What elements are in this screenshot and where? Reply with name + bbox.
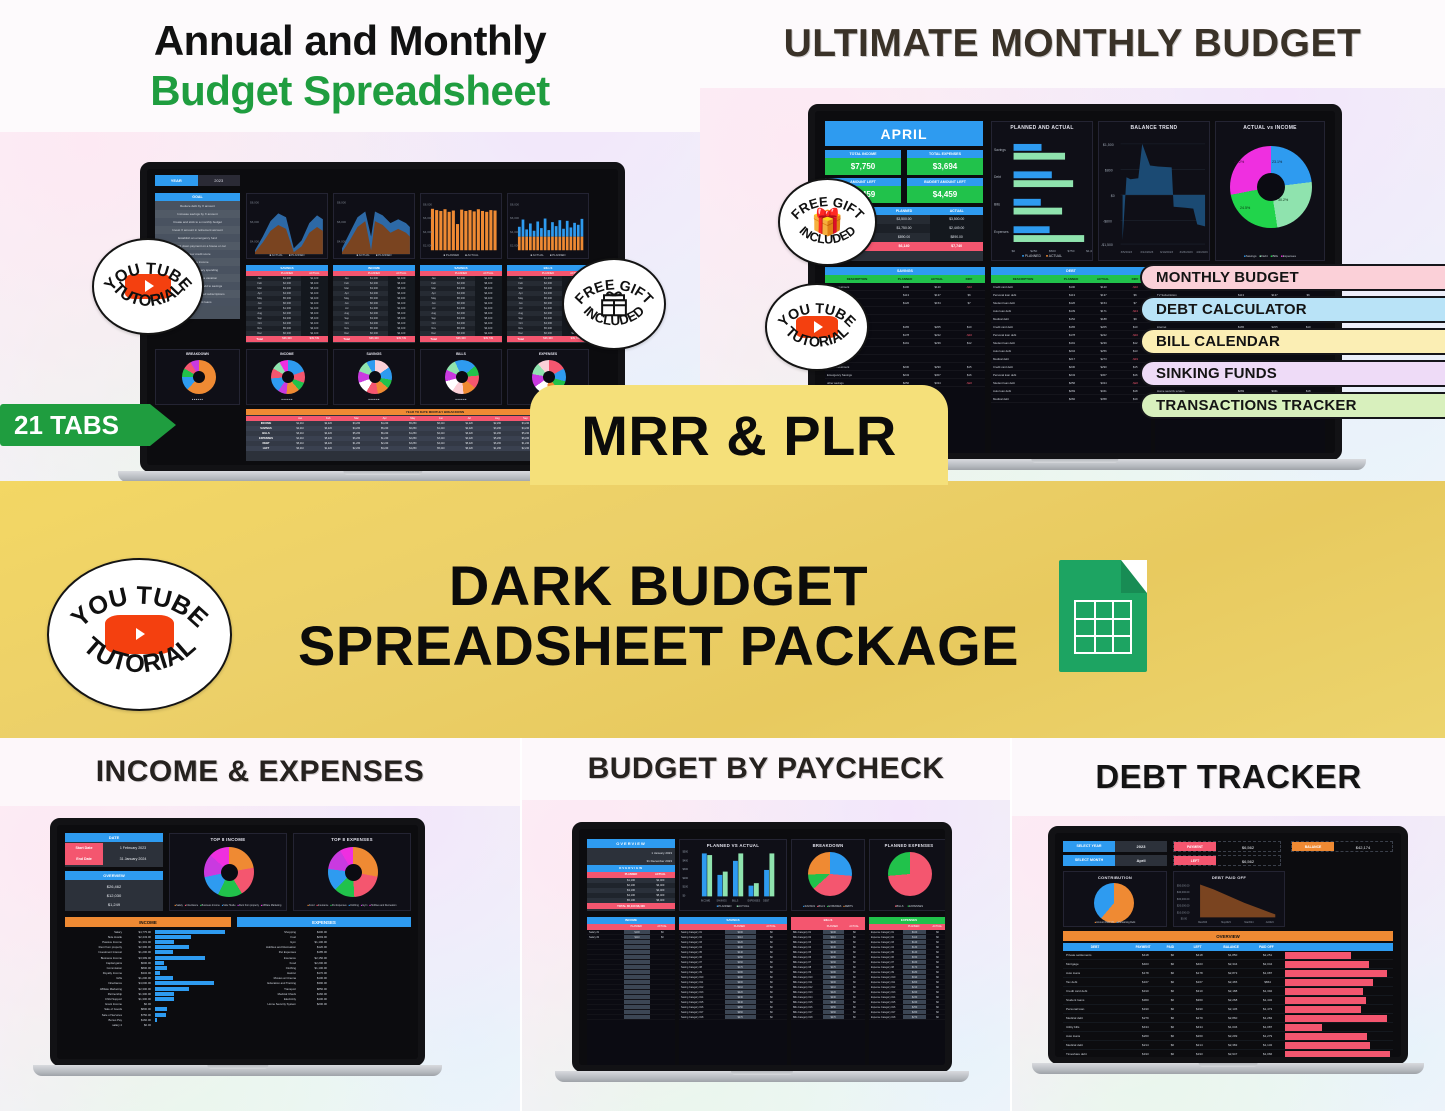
- svg-text:$10,000.00: $10,000.00: [1177, 911, 1190, 914]
- cell-total-actual: $39,739: [475, 336, 502, 342]
- cell-diff: [953, 347, 985, 354]
- cell-label: Saving Category #6: [679, 955, 725, 959]
- debt-cell: $2,947: [1215, 1052, 1250, 1056]
- cell-planned: [624, 945, 649, 949]
- cell-actual: $0: [650, 930, 675, 934]
- cell-label: Saving Category #14: [679, 995, 725, 999]
- cell-actual: $0: [756, 940, 787, 944]
- cell-label: [587, 960, 624, 964]
- cell-planned: $120: [725, 940, 756, 944]
- cell-label: Saving Category #8: [679, 965, 725, 969]
- row-value: $0.00: [125, 1002, 155, 1006]
- row-barwrap: [155, 987, 231, 991]
- cell-actual: $0: [844, 985, 865, 989]
- income-date-row: Start Date1 February 2023: [65, 843, 163, 854]
- gift-top-label: FREE GIFT: [788, 194, 867, 223]
- table-row: Personal loan debt$178$222-$16: [991, 331, 1151, 339]
- table-row: Auto loan debt$204$256$13: [991, 347, 1151, 355]
- overview-value: $1,249: [65, 900, 163, 909]
- debt-selector[interactable]: SELECT YEAR2023: [1063, 841, 1167, 852]
- cell-actual: $0: [756, 935, 787, 939]
- cell-actual: $0: [756, 995, 787, 999]
- cell-actual: $0: [844, 1000, 865, 1004]
- overview-subheader: OVERVIEW: [587, 865, 675, 872]
- paycheck-laptop: OVERVIEW 1 January 202331 December 2023O…: [572, 822, 952, 1082]
- feature-tab-5[interactable]: TRANSACTIONS TRACKER: [1140, 392, 1445, 419]
- debt-cell: Mortgage: [1063, 962, 1130, 966]
- cell-actual: $0: [756, 950, 787, 954]
- row-value: $100.00: [299, 997, 331, 1001]
- debt-cell: $167: [1130, 980, 1162, 984]
- date-value: 31 January 2024: [103, 854, 163, 865]
- debt-barwrap: [1285, 952, 1393, 959]
- debt-barwrap: [1285, 979, 1393, 986]
- debt-bar: [1285, 1024, 1322, 1031]
- cell-label: Saving Category #9: [679, 970, 725, 974]
- col-planned: PLANNED: [1055, 275, 1087, 283]
- cell-actual: $0: [756, 975, 787, 979]
- cell-planned: $100: [1056, 283, 1088, 290]
- cell-label: Bills Category #18: [791, 1015, 823, 1019]
- svg-text:$8,000: $8,000: [337, 201, 346, 205]
- cell-label: Bills Category #6: [791, 955, 823, 959]
- debt-cell: $2,188: [1215, 989, 1250, 993]
- cell-planned: $170: [725, 965, 756, 969]
- cell-actual: $0: [926, 1000, 949, 1004]
- cell-planned: $270: [725, 1015, 756, 1019]
- row-barwrap: [155, 966, 231, 970]
- annual-title-line1: Annual and Monthly: [154, 17, 546, 65]
- row-label: Food: [237, 961, 299, 965]
- cell-label: Bills Category #13: [791, 990, 823, 994]
- debt-barwrap: [1285, 988, 1393, 995]
- cell-planned: $100: [903, 930, 926, 934]
- cell-label: Expense Category #12: [869, 985, 903, 989]
- row-value: $1,200.00: [125, 950, 155, 954]
- row-label: Royalty Income: [65, 971, 125, 975]
- table-row: Student loan debt$256$324-$22: [991, 379, 1151, 387]
- mini-cell: $3,500.00: [930, 215, 983, 224]
- income-chart-top-expenses: TOP 8 EXPENSES ■Food ■Insurance ■Pet Exp…: [293, 833, 411, 911]
- svg-text:$50,000.00: $50,000.00: [1177, 884, 1190, 887]
- row-label: Electricity: [237, 997, 299, 1001]
- debt-cell: $2,860: [1215, 1016, 1250, 1020]
- cell-actual: $0: [926, 950, 949, 954]
- cell-planned: $165: [890, 323, 922, 330]
- col-actual: ACTUAL: [930, 207, 983, 215]
- debt-cell: $279: [1183, 1016, 1215, 1020]
- cell-label: Expense Category #14: [869, 995, 903, 999]
- row-label: salary 2: [65, 1023, 125, 1027]
- cell-label: Saving Category #18: [679, 1015, 725, 1019]
- cell-planned: $160: [725, 960, 756, 964]
- cell-diff: [953, 307, 985, 314]
- table-total-row: Total$36,300$39,739: [333, 336, 415, 342]
- cell-planned: [624, 1015, 649, 1019]
- google-sheets-icon: [1059, 560, 1147, 672]
- row-label: Sale of Services: [65, 1013, 125, 1017]
- income-screen: DATE Start Date1 February 2023End Date31…: [50, 818, 425, 1066]
- cell-actual: $154: [1088, 299, 1120, 306]
- cell-total-planned: $36,300: [273, 336, 300, 342]
- cell-label: [587, 975, 624, 979]
- cell-actual: $0: [926, 960, 949, 964]
- annual-donut-panel: INCOME■ ■ ■ ■ ■ ■: [246, 349, 328, 405]
- cell-actual: [650, 970, 675, 974]
- cell-planned: $170: [903, 965, 926, 969]
- cell-label: Bills Category #1: [791, 930, 823, 934]
- cell-actual: $0: [844, 940, 865, 944]
- cell-planned: $110: [823, 935, 844, 939]
- feature-tab-4[interactable]: SINKING FUNDS: [1140, 360, 1445, 387]
- row-label: Inheritance: [65, 981, 125, 985]
- cell-planned: $217: [1056, 355, 1088, 362]
- svg-text:$6,000: $6,000: [250, 220, 259, 224]
- debt-bar: [1285, 1033, 1367, 1040]
- legend-side-hustle: ■Side Hustle: [222, 904, 236, 907]
- svg-text:$1,500: $1,500: [1103, 143, 1114, 147]
- row-barwrap: [155, 1002, 231, 1006]
- table-row: Credit card debt$165$205$10: [991, 323, 1151, 331]
- cell-actual: $0: [756, 1010, 787, 1014]
- annual-year-tab[interactable]: YEAR: [155, 175, 198, 186]
- row-bar: [155, 945, 189, 949]
- cell-actual: $0: [756, 990, 787, 994]
- row-bar: [155, 1007, 167, 1011]
- cell-actual: [922, 347, 954, 354]
- debt-bar: [1285, 952, 1351, 959]
- cell-description: Credit card debt: [991, 283, 1056, 290]
- cell-label: Bills Category #3: [791, 940, 823, 944]
- svg-text:$0: $0: [1012, 249, 1016, 253]
- row-bar: [155, 940, 174, 944]
- annual-month-table: SAVINGSPLANNEDACTUALJan$1,300$1,100Feb$2…: [420, 265, 502, 343]
- cell-label: [587, 995, 624, 999]
- row-label: Shopping: [237, 930, 299, 934]
- svg-text:$8,000: $8,000: [510, 203, 519, 207]
- row-label: Affiliate Marketing: [65, 987, 125, 991]
- row-label: Bonus Pay: [65, 1018, 125, 1022]
- cell-planned: $126: [1056, 299, 1088, 306]
- row-label: Business Income: [65, 956, 125, 960]
- cell-diff: $6: [953, 291, 985, 298]
- income-date-row: End Date31 January 2024: [65, 854, 163, 865]
- row-barwrap: [155, 961, 231, 965]
- debt-cell: $178: [1183, 971, 1215, 975]
- table-total-row: Total$36,300$39,739: [246, 336, 328, 342]
- row-value: $200.00: [299, 1002, 331, 1006]
- cell-total-planned: $36,300: [534, 336, 561, 342]
- debt-bar: [1285, 1051, 1390, 1058]
- chart-title-actual-vs-income: ACTUAL vs INCOME: [1216, 125, 1324, 131]
- table-row: Saving Category #18$270$0: [679, 1015, 787, 1020]
- svg-text:INCLUDED: INCLUDED: [797, 223, 859, 246]
- cell-actual: $0: [844, 960, 865, 964]
- table-row: Medical debt$282$358$19: [991, 395, 1151, 403]
- donut-legend: ■ ■ ■ ■ ■ ■: [158, 399, 237, 402]
- overview-value: $12,030: [65, 891, 163, 900]
- cell-actual: [650, 960, 675, 964]
- selector-value: April: [1115, 855, 1167, 866]
- laptop-notch: [1199, 1063, 1258, 1067]
- col-diff: DIFF: [953, 275, 985, 283]
- overview-date: 1 January 2023: [587, 849, 675, 857]
- chart-title-breakdown: BREAKDOWN: [156, 352, 239, 356]
- cell-label: Expense Category #6: [869, 955, 903, 959]
- row-barwrap: [155, 940, 231, 944]
- feature-tab-1[interactable]: MONTHLY BUDGET: [1140, 264, 1445, 291]
- cell-planned: $100: [890, 283, 922, 290]
- cell-planned: [624, 980, 649, 984]
- debt-row: Tax debt$167$0$167$2,465$864: [1063, 978, 1393, 987]
- row-value: $3,399.00: [125, 956, 155, 960]
- debt-barwrap: [1285, 1042, 1393, 1049]
- cell-actual: $222: [922, 331, 954, 338]
- cell-actual: $0: [650, 935, 675, 939]
- cell-actual: $0: [844, 970, 865, 974]
- table-row: Expense Category #18$270$0: [869, 1015, 949, 1020]
- income-row: Rent from property$2,300.00: [65, 945, 231, 950]
- cell-planned: $140: [725, 950, 756, 954]
- table-title: INCOME: [587, 917, 675, 924]
- cell-planned: [624, 985, 649, 989]
- cell-actual: $290: [922, 363, 954, 370]
- cell-actual: $0: [926, 995, 949, 999]
- donut-legend: ■ ■ ■ ■ ■ ■: [336, 399, 412, 402]
- row-label: Fuel: [237, 935, 299, 939]
- row-barwrap: [155, 971, 231, 975]
- cell-planned: $220: [903, 990, 926, 994]
- cell-planned: $160: [903, 960, 926, 964]
- debt-barwrap: [1285, 1033, 1393, 1040]
- cell-label: Expense Category #1: [869, 930, 903, 934]
- debt-kpi: BALANCE$42,174: [1291, 841, 1393, 852]
- paycheck-overview-header: OVERVIEW: [587, 839, 675, 848]
- row-barwrap: [155, 981, 231, 985]
- cell-label: Bills Category #7: [791, 960, 823, 964]
- debt-cell: Tax debt: [1063, 980, 1130, 984]
- cell-planned: [624, 1005, 649, 1009]
- feature-tab-label: DEBT CALCULATOR: [1156, 301, 1307, 318]
- row-barwrap: [155, 1018, 231, 1022]
- debt-cell: $360: [1183, 998, 1215, 1002]
- debt-bar: [1285, 979, 1373, 986]
- legend-bills: ■Bills: [1271, 254, 1278, 258]
- debt-cell: Utility bills: [1063, 1025, 1130, 1029]
- row-bar: [155, 1013, 166, 1017]
- yt-top-label: YOU TUBE: [776, 301, 859, 331]
- mini-cell: $2,449.00: [930, 224, 983, 233]
- table-row: Personal loan debt$113$137$6: [991, 291, 1151, 299]
- chart-title-income: INCOME: [247, 352, 327, 356]
- cell-planned: [624, 975, 649, 979]
- svg-text:May2023: May2023: [1221, 922, 1231, 924]
- row-value: $800.00: [125, 966, 155, 970]
- cell-planned: $178: [1056, 331, 1088, 338]
- debt-selector[interactable]: SELECT MONTHApril: [1063, 855, 1167, 866]
- cell-label: Bills Category #16: [791, 1005, 823, 1009]
- income-row: Side Hustle$2,443.00: [65, 934, 231, 939]
- debt-cell: $360: [1130, 998, 1162, 1002]
- cell-label: [587, 940, 624, 944]
- cell-planned: $100: [624, 930, 649, 934]
- debt-barwrap: [1285, 961, 1393, 968]
- debt-cell: $1,392: [1250, 989, 1285, 993]
- row-bar: [155, 930, 225, 934]
- ultimate-kpi: BUDGET AMOUNT LEFT$4,459: [907, 178, 983, 203]
- cell-actual: $0: [844, 975, 865, 979]
- free-gift-badge-ultimate[interactable]: FREE GIFT INCLUDED 🎁: [778, 178, 877, 266]
- debt-cell: $0: [1161, 971, 1183, 975]
- cell-label: Bills Category #11: [791, 980, 823, 984]
- feature-tab-label: BILL CALENDAR: [1156, 333, 1280, 350]
- cell-total-actual: $39,739: [388, 336, 415, 342]
- cell-actual: $171: [1088, 307, 1120, 314]
- cell-planned: [624, 990, 649, 994]
- debt-cell: $2,136: [1215, 1007, 1250, 1011]
- donut-hole: [193, 371, 205, 383]
- yt-bottom-label: TUTORIAL: [782, 324, 853, 351]
- cell-diff: $12: [953, 339, 985, 346]
- cell-label: Saving Category #1: [679, 930, 725, 934]
- kpi-value: $3,694: [907, 158, 983, 175]
- youtube-tutorial-badge-banner[interactable]: YOU TUBE TUTORIAL: [47, 558, 232, 711]
- cell-planned: $126: [890, 299, 922, 306]
- cell-label: Expense Category #15: [869, 1000, 903, 1004]
- donut-top-income: [204, 847, 254, 897]
- svg-text:$800: $800: [1105, 168, 1113, 172]
- cell-actual: $0: [844, 1015, 865, 1019]
- feature-tab-2[interactable]: DEBT CALCULATOR: [1140, 296, 1445, 323]
- cell-planned: [890, 355, 922, 362]
- row-value: $4,775.00: [125, 930, 155, 934]
- legend-affiliate: ■Affiliate Marketing: [261, 904, 281, 907]
- debt-cell: $1,087: [1250, 1025, 1285, 1029]
- debt-cell: $0: [1161, 1052, 1183, 1056]
- cell-label: Saving Category #11: [679, 980, 725, 984]
- debt-cell: $2,873: [1215, 971, 1250, 975]
- debt-cell: Private settlements: [1063, 953, 1130, 957]
- cell-label: Bills Category #8: [791, 965, 823, 969]
- debt-bar: [1285, 997, 1366, 1004]
- chart-title-savings: SAVINGS: [334, 352, 414, 356]
- cell-planned: $250: [823, 1005, 844, 1009]
- cell-actual: $222: [1088, 331, 1120, 338]
- cell-label: Expense Category #7: [869, 960, 903, 964]
- gift-badge-arc-text: FREE GIFT INCLUDED: [780, 180, 875, 264]
- cell: $6,210: [286, 446, 314, 451]
- debt-cell: $1,279: [1250, 1034, 1285, 1038]
- ultimate-month-selector[interactable]: APRIL: [825, 121, 983, 146]
- annual-chart-bars-orange: $8,000$6,000$4,000$2,000 ■ PLANNED■ ACTU…: [420, 193, 502, 259]
- row-label: Capital gains: [65, 961, 125, 965]
- cell-label: Saving Category #4: [679, 945, 725, 949]
- feature-tab-3[interactable]: BILL CALENDAR: [1140, 328, 1445, 355]
- cell-total-actual: $39,739: [301, 336, 328, 342]
- chart-title-expenses: EXPENSES: [508, 352, 588, 356]
- svg-text:3/26/2023: 3/26/2023: [1180, 250, 1193, 254]
- cell-planned: $130: [823, 945, 844, 949]
- legend-expenses: ■Expenses: [1281, 254, 1296, 258]
- free-gift-badge-annual[interactable]: FREE GIFT INCLUDED: [562, 258, 666, 350]
- row-label: Medical Check: [237, 992, 299, 996]
- svg-text:$0: $0: [682, 894, 685, 897]
- cell-actual: [922, 307, 954, 314]
- cell-planned: $200: [823, 980, 844, 984]
- annual-chart-savings-trend: $8,000 $6,000 $4,000 ■ ACTUAL■ PLANNED: [333, 193, 415, 259]
- cell-diff: -$10: [953, 283, 985, 290]
- annual-year-value[interactable]: 2023: [198, 175, 241, 186]
- cell-planned: $190: [823, 975, 844, 979]
- cell-planned: $200: [903, 980, 926, 984]
- ultimate-kpi: TOTAL EXPENSES$3,694: [907, 150, 983, 175]
- cell-actual: $307: [1088, 371, 1120, 378]
- income-row: Affiliate Marketing$2,300.00: [65, 986, 231, 991]
- legend-planned: ■ PLANNED: [550, 253, 566, 257]
- svg-text:FREE GIFT: FREE GIFT: [788, 194, 867, 223]
- donut-hole: [282, 371, 294, 383]
- cell-actual: $0: [844, 1005, 865, 1009]
- cell-diff: $10: [953, 323, 985, 330]
- debt-laptop-base: [1032, 1063, 1424, 1074]
- cell: $5,210: [427, 446, 455, 451]
- cell-actual: $307: [922, 371, 954, 378]
- cell-actual: [650, 940, 675, 944]
- row-value: $800.00: [125, 1007, 155, 1011]
- youtube-tutorial-badge-annual[interactable]: YOU TUBE TUTORIAL: [92, 238, 204, 335]
- legend-planned: ■PLANNED: [717, 904, 732, 908]
- cell-planned: $180: [725, 970, 756, 974]
- cell-actual: $239: [922, 339, 954, 346]
- debt-cell: $418: [1130, 953, 1162, 957]
- kpi-label: TOTAL INCOME: [825, 150, 901, 158]
- svg-text:FREE GIFT: FREE GIFT: [572, 277, 656, 308]
- svg-text:$8,000: $8,000: [423, 203, 432, 207]
- table-row: Student loan debt$191$239$12: [991, 339, 1151, 347]
- row-label: Commission: [65, 966, 125, 970]
- row-value: $2,150.00: [299, 956, 331, 960]
- youtube-tutorial-badge-ultimate[interactable]: YOU TUBE TUTORIAL: [765, 283, 869, 371]
- cell-label: [587, 965, 624, 969]
- paycheck-overview-box: OVERVIEW 1 January 202331 December 2023O…: [587, 839, 675, 911]
- row-value: $2,443.00: [125, 935, 155, 939]
- table-title: BILLS: [791, 917, 865, 924]
- debt-barwrap: [1285, 1051, 1393, 1058]
- row-value: $2,300.00: [125, 945, 155, 949]
- kpi-value: $4,459: [907, 186, 983, 203]
- debt-cell: $403: [1183, 962, 1215, 966]
- table-row: Medical debt$152$188$9: [991, 315, 1151, 323]
- banner-title-line1: DARK BUDGET: [449, 554, 868, 617]
- svg-text:$4,000: $4,000: [250, 239, 259, 243]
- svg-text:3/5/2023: 3/5/2023: [1121, 250, 1133, 254]
- kpi-value: $6,562: [1216, 856, 1280, 865]
- col-planned: PLANNED: [889, 275, 921, 283]
- income-laptop-base: [33, 1065, 442, 1076]
- cell-actual: $0: [756, 985, 787, 989]
- debt-screen: SELECT YEAR2023SELECT MONTHApril PAYMENT…: [1048, 826, 1408, 1064]
- cell-planned: $240: [823, 1000, 844, 1004]
- cell-actual: $0: [756, 955, 787, 959]
- debt-barwrap: [1285, 997, 1393, 1004]
- cell-actual: $0: [926, 1015, 949, 1019]
- cell-actual: [650, 995, 675, 999]
- svg-text:Jul2024: Jul2024: [1266, 922, 1275, 924]
- col-balance: BALANCE: [1214, 943, 1249, 951]
- legend-actual: ■ ACTUAL: [465, 253, 478, 257]
- table-row: Bills Category #18$270$0: [791, 1015, 865, 1020]
- cell-planned: $100: [725, 930, 756, 934]
